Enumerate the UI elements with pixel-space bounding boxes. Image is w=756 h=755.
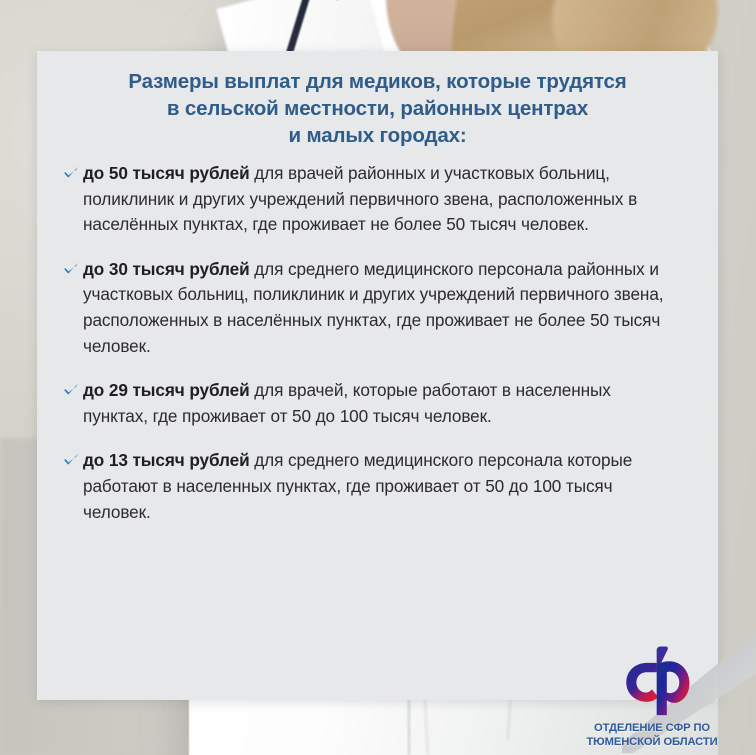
list-item-amount: до 50 тысяч рублей: [83, 163, 250, 183]
list-item: до 29 тысяч рублей для врачей, которые р…: [59, 378, 696, 429]
page-title-line-1: Размеры выплат для медиков, которые труд…: [83, 68, 672, 95]
sfr-logo-caption: ОТДЕЛЕНИЕ СФР ПО ТЮМЕНСКОЙ ОБЛАСТИ: [564, 722, 740, 749]
check-icon: [63, 453, 79, 467]
list-item-text: до 13 тысяч рублей для среднего медицинс…: [83, 448, 674, 525]
list-item-text: до 29 тысяч рублей для врачей, которые р…: [83, 378, 674, 429]
page-title-line-2: в сельской местности, районных центрах: [83, 95, 672, 122]
payment-list: до 50 тысяч рублей для врачей районных и…: [37, 149, 718, 525]
info-card: Размеры выплат для медиков, которые труд…: [37, 51, 718, 700]
check-icon: [63, 262, 79, 276]
page-title: Размеры выплат для медиков, которые труд…: [37, 51, 718, 149]
sfr-caption-line-2: ТЮМЕНСКОЙ ОБЛАСТИ: [564, 736, 740, 750]
list-item: до 50 тысяч рублей для врачей районных и…: [59, 161, 696, 238]
sfr-logo-block: ОТДЕЛЕНИЕ СФР ПО ТЮМЕНСКОЙ ОБЛАСТИ: [564, 641, 740, 749]
list-item-amount: до 13 тысяч рублей: [83, 450, 250, 470]
page-title-line-3: и малых городах:: [83, 122, 672, 149]
list-item: до 13 тысяч рублей для среднего медицинс…: [59, 448, 696, 525]
list-item-text: до 30 тысяч рублей для среднего медицинс…: [83, 257, 674, 359]
sfr-caption-line-1: ОТДЕЛЕНИЕ СФР ПО: [564, 722, 740, 736]
list-item-text: до 50 тысяч рублей для врачей районных и…: [83, 161, 674, 238]
check-icon: [63, 383, 79, 397]
sfr-logo-icon: [612, 641, 692, 719]
list-item: до 30 тысяч рублей для среднего медицинс…: [59, 257, 696, 359]
check-icon: [63, 166, 79, 180]
list-item-amount: до 30 тысяч рублей: [83, 259, 250, 279]
list-item-amount: до 29 тысяч рублей: [83, 380, 250, 400]
